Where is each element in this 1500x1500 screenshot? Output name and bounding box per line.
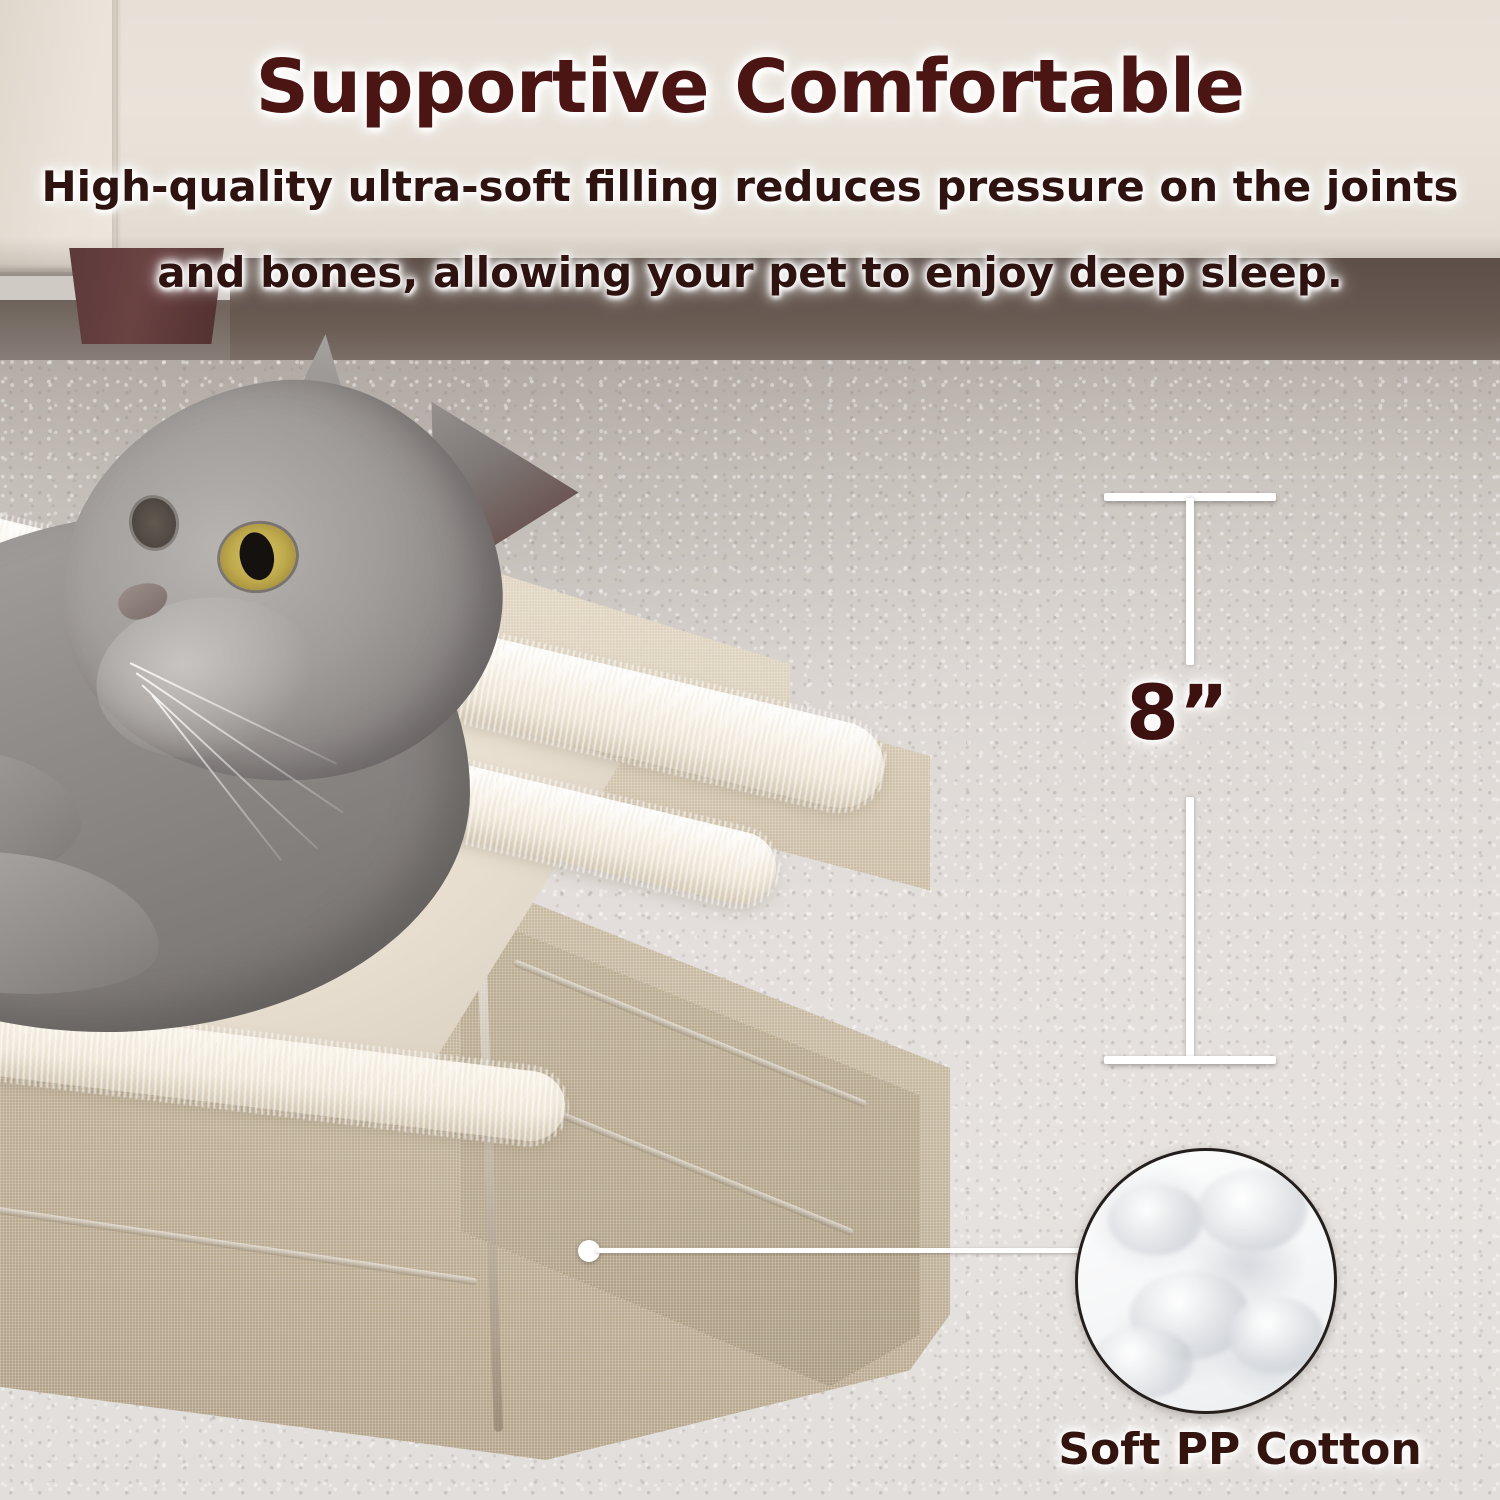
subtitle-line-1: High-quality ultra-soft filling reduces … [0,162,1500,211]
fiber-tuft [1228,1297,1324,1373]
sofa-arm-panel [0,0,118,268]
fiber-tuft [1108,1185,1204,1255]
dimension-cap-bottom [1104,1056,1276,1064]
fiber-tuft [1090,1327,1194,1399]
callout-leader-line [596,1248,1082,1253]
callout-material-swatch [1075,1148,1337,1414]
subtitle-line-2: and bones, allowing your pet to enjoy de… [0,248,1500,297]
fiber-tuft [1198,1169,1308,1251]
dimension-stem-upper [1186,498,1194,665]
cat [0,312,700,1072]
height-dimension-marker: 8” [1100,480,1300,1080]
sofa-seam [112,0,122,268]
dimension-label: 8” [1126,675,1286,751]
dimension-stem-lower [1186,797,1194,1059]
headline: Supportive Comfortable [0,44,1500,130]
product-marketing-image: Supportive Comfortable High-quality ultr… [0,0,1500,1500]
sofa-background [0,0,1500,272]
callout-label: Soft PP Cotton [1030,1424,1450,1475]
